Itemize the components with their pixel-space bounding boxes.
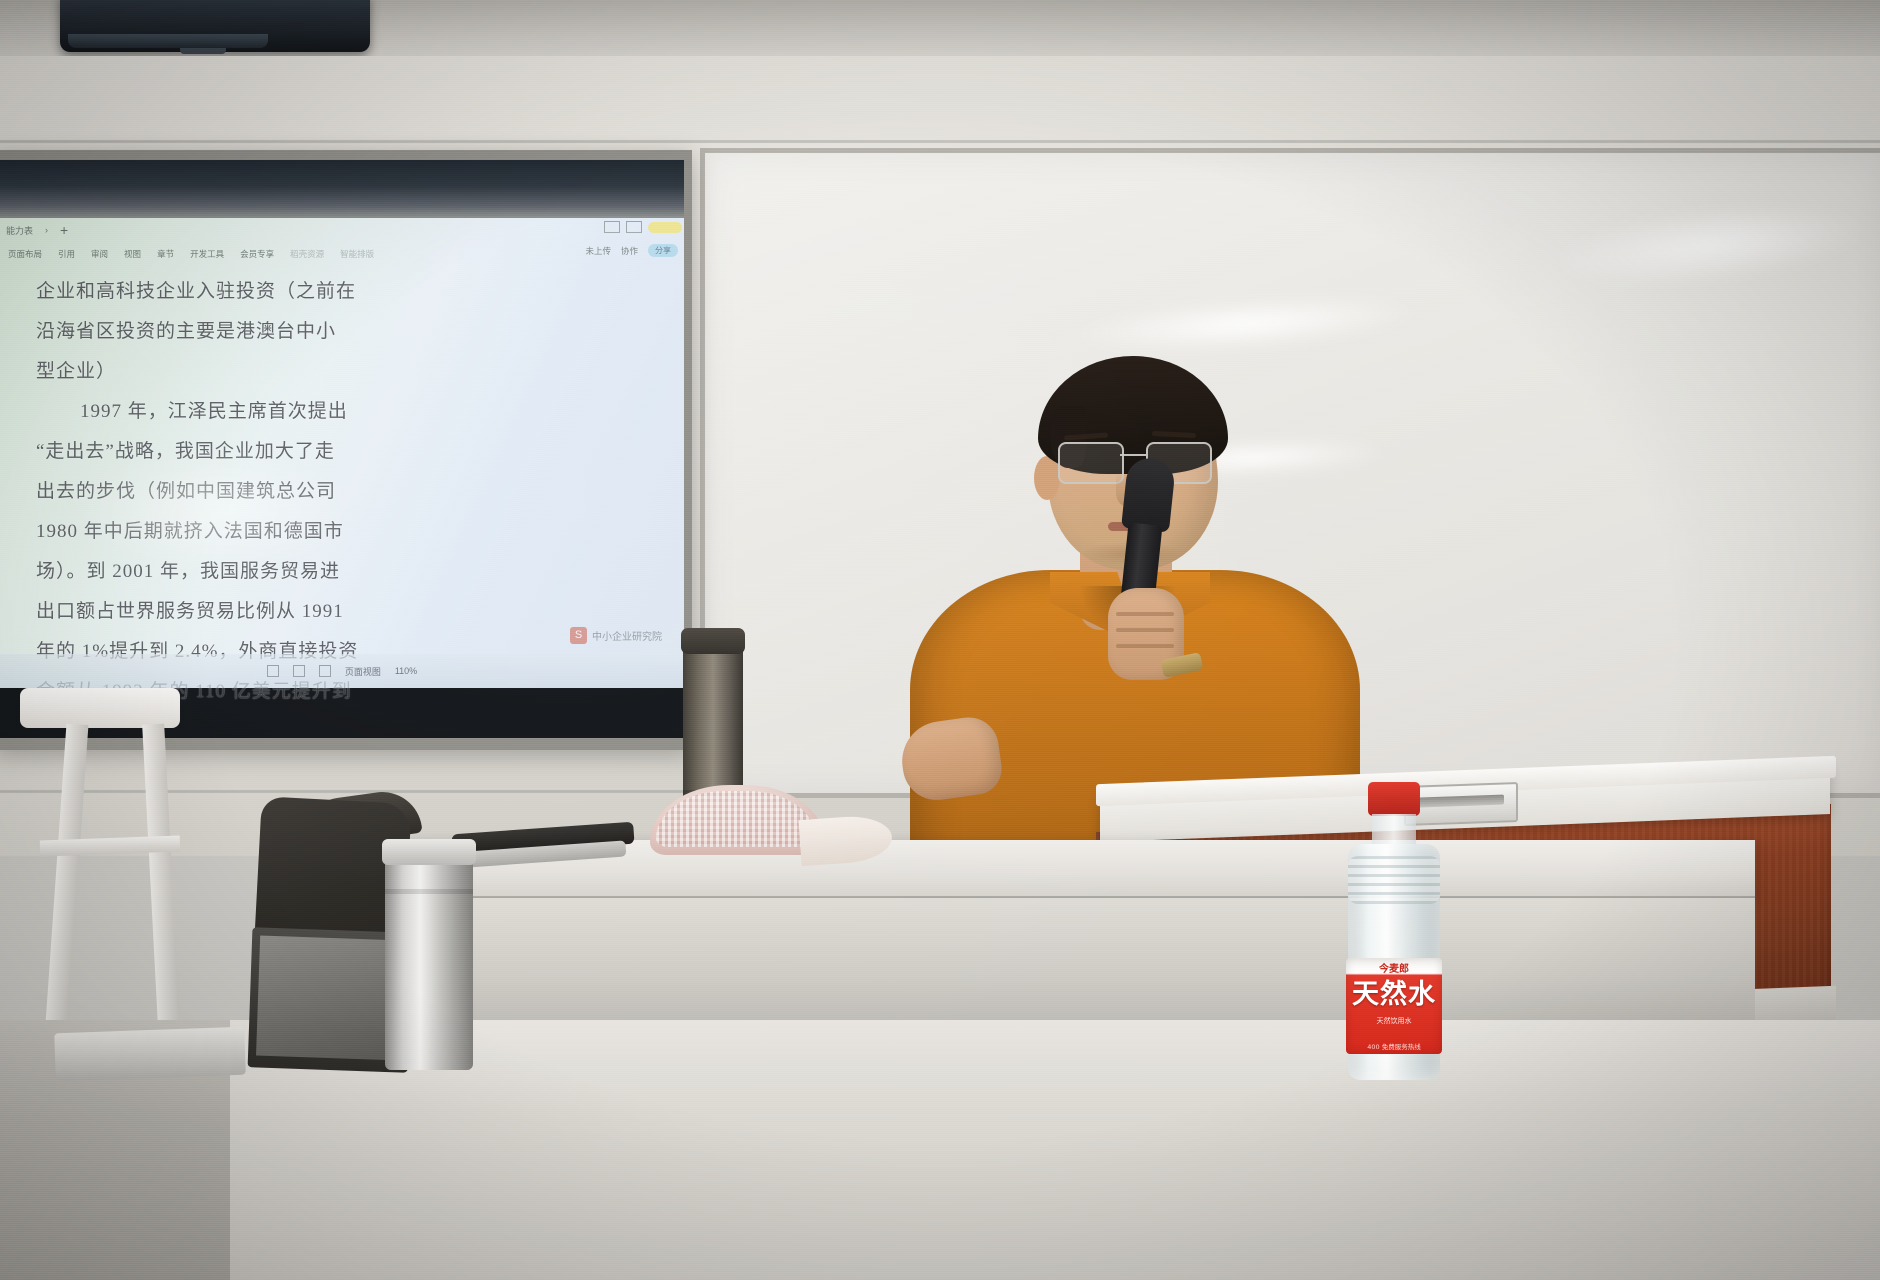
document-line: 出口额占世界服务贸易比例从 1991	[36, 592, 658, 632]
bottle-brand-text: 今麦郎	[1346, 960, 1442, 975]
side-chair	[0, 688, 200, 1028]
account-pill-icon[interactable]	[648, 222, 682, 233]
bottle-product-text: 天然水	[1346, 980, 1442, 1010]
ribbon-item-references[interactable]: 引用	[58, 248, 75, 260]
document-line: 出去的步伐（例如中国建筑总公司	[36, 472, 658, 512]
logo-text: 中小企业研究院	[592, 628, 662, 643]
window-controls[interactable]	[604, 221, 682, 233]
screen-dark-band	[0, 160, 684, 218]
thermos-lid	[681, 628, 745, 654]
document-line: 场）。到 2001 年，我国服务贸易进	[36, 552, 658, 592]
ribbon-item-member-exclusive[interactable]: 会员专享	[240, 248, 274, 260]
thermos-ring	[385, 889, 473, 894]
wps-ribbon-right[interactable]: 未上传 协作 分享	[585, 244, 678, 257]
logo-mark-icon: S	[570, 627, 587, 644]
ribbon-item-view[interactable]: 视图	[124, 248, 141, 260]
document-line: 沿海省区投资的主要是港澳台中小	[36, 312, 658, 352]
bottle-footer-text: 400 免费服务热线	[1346, 1041, 1442, 1051]
bottle-ribs	[1348, 856, 1440, 904]
document-line: 型企业）	[36, 352, 658, 392]
ribbon-item-developer-tools[interactable]: 开发工具	[190, 248, 224, 260]
ribbon-item-page-layout[interactable]: 页面布局	[8, 248, 42, 260]
document-text-body: 企业和高科技企业入驻投资（之前在 沿海省区投资的主要是港澳台中小 型企业） 19…	[0, 266, 684, 648]
document-line: 1980 年中后期就挤入法国和德国市	[36, 512, 658, 552]
document-status-bar[interactable]: 页面视图 110%	[0, 654, 684, 688]
wps-tab-bar[interactable]: 能力表 › +	[0, 218, 684, 242]
wall-seam-upper	[0, 140, 1880, 143]
projector-mount	[180, 38, 226, 54]
ceiling-projector	[60, 0, 370, 52]
cap-mesh-panel	[656, 791, 816, 847]
page-view-icon[interactable]	[267, 665, 279, 677]
share-button[interactable]: 分享	[648, 244, 678, 257]
upload-status-label: 未上传	[585, 245, 611, 257]
front-table-apron	[295, 898, 1755, 1028]
wps-new-tab-button[interactable]: +	[60, 222, 68, 238]
document-line: 1997 年，江泽民主席首次提出	[36, 392, 658, 432]
projection-screen-surface: 能力表 › + 页面布局 引用 审阅 视图 章节 开发工具	[0, 160, 684, 738]
minimize-icon[interactable]	[604, 221, 620, 233]
chair-back	[20, 688, 180, 728]
lecture-room-photo: 能力表 › + 页面布局 引用 审阅 视图 章节 开发工具	[0, 0, 1880, 1280]
finger-line	[1116, 644, 1174, 648]
page-view-label: 页面视图	[345, 665, 381, 678]
bottle-cap	[1368, 782, 1420, 816]
thermos-cap	[382, 839, 476, 865]
steel-thermos	[385, 855, 473, 1070]
finger-line	[1116, 628, 1174, 632]
laptop	[54, 1027, 246, 1082]
chair-leg	[142, 724, 180, 1025]
cap-brim	[799, 814, 894, 866]
floor-front	[230, 1020, 1880, 1280]
chair-leg	[46, 724, 89, 1025]
projected-wps-document: 能力表 › + 页面布局 引用 审阅 视图 章节 开发工具	[0, 218, 684, 688]
wps-document-tab[interactable]: 能力表	[6, 224, 33, 237]
document-line: “走出去”战略，我国企业加大了走	[36, 432, 658, 472]
wps-ribbon[interactable]: 页面布局 引用 审阅 视图 章节 开发工具 会员专享 稻壳资源 智能排版	[0, 244, 684, 264]
ribbon-item-smart-layout[interactable]: 智能排版	[340, 248, 374, 260]
ribbon-item-docer-resources[interactable]: 稻壳资源	[290, 248, 324, 260]
zoom-level-label[interactable]: 110%	[395, 666, 417, 676]
microphone-head	[1121, 456, 1176, 533]
bottle-label: 今麦郎 天然水 天然饮用水 400 免费服务热线	[1346, 958, 1442, 1054]
water-bottle: 今麦郎 天然水 天然饮用水 400 免费服务热线	[1338, 782, 1448, 1080]
maximize-icon[interactable]	[626, 221, 642, 233]
mesh-cap	[650, 785, 885, 870]
document-watermark-logo: S 中小企业研究院	[570, 627, 662, 644]
collaborate-button[interactable]: 协作	[621, 245, 638, 257]
outline-view-icon[interactable]	[319, 665, 331, 677]
finger-line	[1116, 612, 1174, 616]
ribbon-item-sections[interactable]: 章节	[157, 248, 174, 260]
document-line: 企业和高科技企业入驻投资（之前在	[36, 272, 658, 312]
projection-screen: 能力表 › + 页面布局 引用 审阅 视图 章节 开发工具	[0, 150, 692, 750]
ribbon-item-review[interactable]: 审阅	[91, 248, 108, 260]
wps-tab-chevron-icon[interactable]: ›	[45, 225, 48, 235]
eyeglass-lens	[1058, 442, 1124, 484]
web-view-icon[interactable]	[293, 665, 305, 677]
bottle-subtitle-text: 天然饮用水	[1346, 1016, 1442, 1026]
